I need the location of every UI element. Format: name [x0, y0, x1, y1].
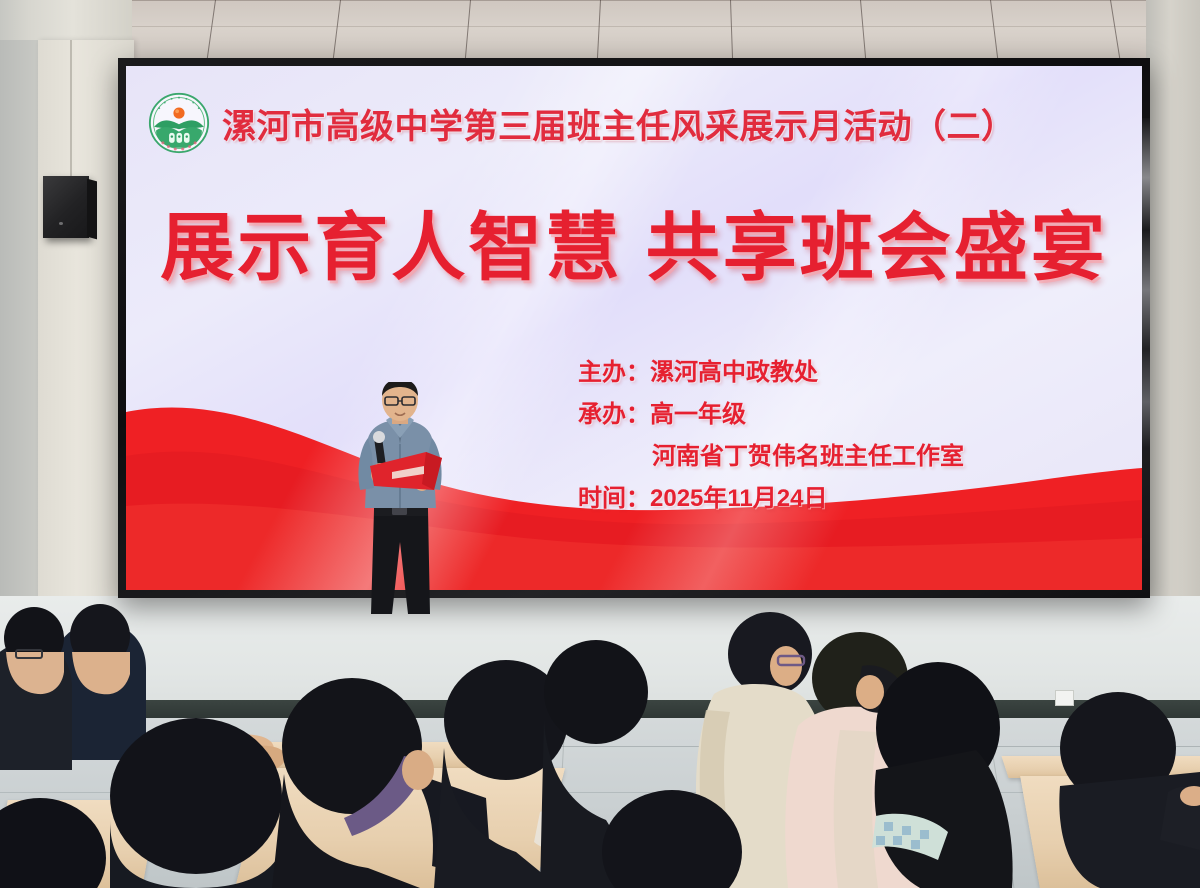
ceiling — [0, 0, 1200, 64]
lecture-room-photo: 漯河市高级中学第三届班主任风采展示月活动（二） 展示育人智慧 共享班会盛宴 主办… — [0, 0, 1200, 888]
student — [872, 662, 1013, 888]
detail-label: 时间： — [578, 485, 650, 512]
speaker-indicator-icon — [59, 222, 63, 225]
detail-line-host: 承办：高一年级 — [578, 394, 1118, 436]
detail-label: 主办： — [578, 359, 650, 386]
slide-headline: 展示育人智慧 共享班会盛宴 — [126, 188, 1142, 295]
pillar-conduit — [70, 40, 72, 190]
detail-line-organizer: 主办：漯河高中政教处 — [578, 352, 1118, 394]
wall-speaker — [43, 176, 89, 238]
school-emblem-icon — [148, 92, 210, 154]
detail-line-date: 时间：2025年11月24日 — [578, 478, 1118, 520]
detail-line-studio: 河南省丁贺伟名班主任工作室 — [578, 436, 1118, 478]
slide-detail-block: 主办：漯河高中政教处 承办：高一年级 河南省丁贺伟名班主任工作室 时间：2025… — [578, 352, 1118, 520]
detail-value: 2025年11月24日 — [650, 485, 827, 512]
detail-value: 高一年级 — [650, 401, 746, 428]
seated-students — [0, 560, 1200, 888]
slide-header: 漯河市高级中学第三届班主任风采展示月活动（二） — [148, 88, 1128, 158]
detail-value: 漯河高中政教处 — [650, 359, 818, 386]
slide-header-title: 漯河市高级中学第三届班主任风采展示月活动（二） — [222, 99, 1016, 148]
student — [0, 607, 72, 770]
presentation-slide[interactable]: 漯河市高级中学第三届班主任风采展示月活动（二） 展示育人智慧 共享班会盛宴 主办… — [126, 66, 1142, 590]
student — [0, 798, 106, 888]
detail-value: 河南省丁贺伟名班主任工作室 — [652, 443, 964, 470]
detail-label: 承办： — [578, 401, 650, 428]
